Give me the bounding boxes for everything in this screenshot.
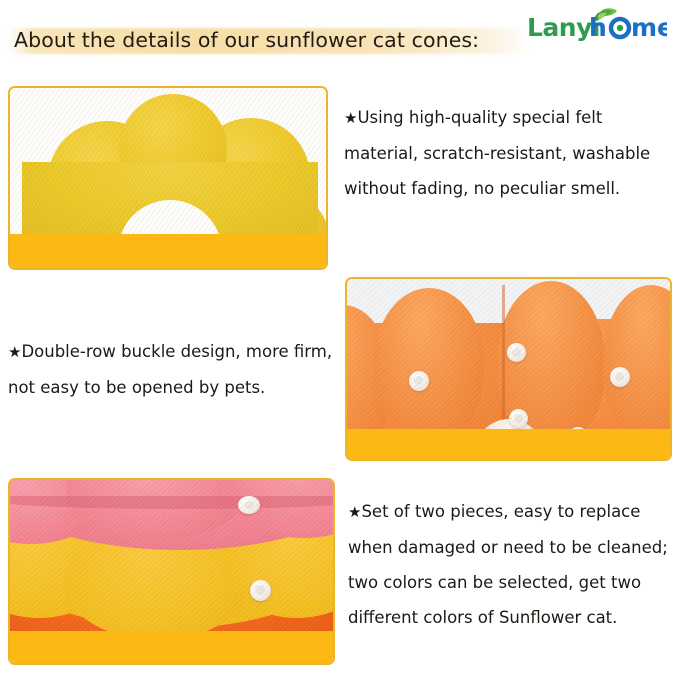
snap-button (509, 409, 528, 428)
star-icon: ★ (344, 109, 357, 127)
brand-logo[interactable]: Lanyi h me (527, 8, 667, 42)
feature-buckle-text: Double-row buckle design, more firm, not… (8, 342, 332, 397)
photo-layered-colors[interactable] (8, 478, 335, 665)
snap-button (250, 580, 271, 601)
photo-layered-colors-canvas (10, 480, 333, 663)
feature-buckle: ★Double-row buckle design, more firm, no… (8, 334, 344, 405)
snap-button (238, 496, 260, 514)
snap-button (409, 371, 429, 391)
product-detail-page: About the details of our sunflower cat c… (0, 0, 679, 679)
felt-petal (374, 288, 484, 438)
svg-text:h: h (589, 13, 607, 42)
feature-material-text: Using high-quality special felt material… (344, 108, 650, 198)
page-title: About the details of our sunflower cat c… (14, 28, 479, 52)
photo-orange-snaps[interactable] (345, 277, 672, 461)
panel-seam (502, 285, 505, 433)
feature-set: ★Set of two pieces, easy to replace when… (348, 494, 674, 635)
feature-set-text: Set of two pieces, easy to replace when … (348, 502, 668, 627)
photo-bottom-band (10, 631, 333, 663)
photo-bottom-band (347, 429, 670, 459)
svg-text:me: me (631, 13, 667, 42)
snap-button (610, 367, 630, 387)
star-icon: ★ (8, 343, 21, 361)
star-icon: ★ (348, 503, 361, 521)
photo-yellow-cone[interactable]: Lanyihome (8, 86, 328, 270)
lanyihome-logo-icon: Lanyi h me (527, 8, 667, 42)
feature-material: ★Using high-quality special felt materia… (344, 100, 674, 206)
snap-button (507, 343, 526, 362)
photo-bottom-band (10, 234, 326, 268)
photo-yellow-cone-canvas: Lanyihome (10, 88, 326, 268)
page-title-container: About the details of our sunflower cat c… (14, 24, 479, 56)
page-header: About the details of our sunflower cat c… (0, 0, 679, 72)
photo-orange-snaps-canvas (347, 279, 670, 459)
